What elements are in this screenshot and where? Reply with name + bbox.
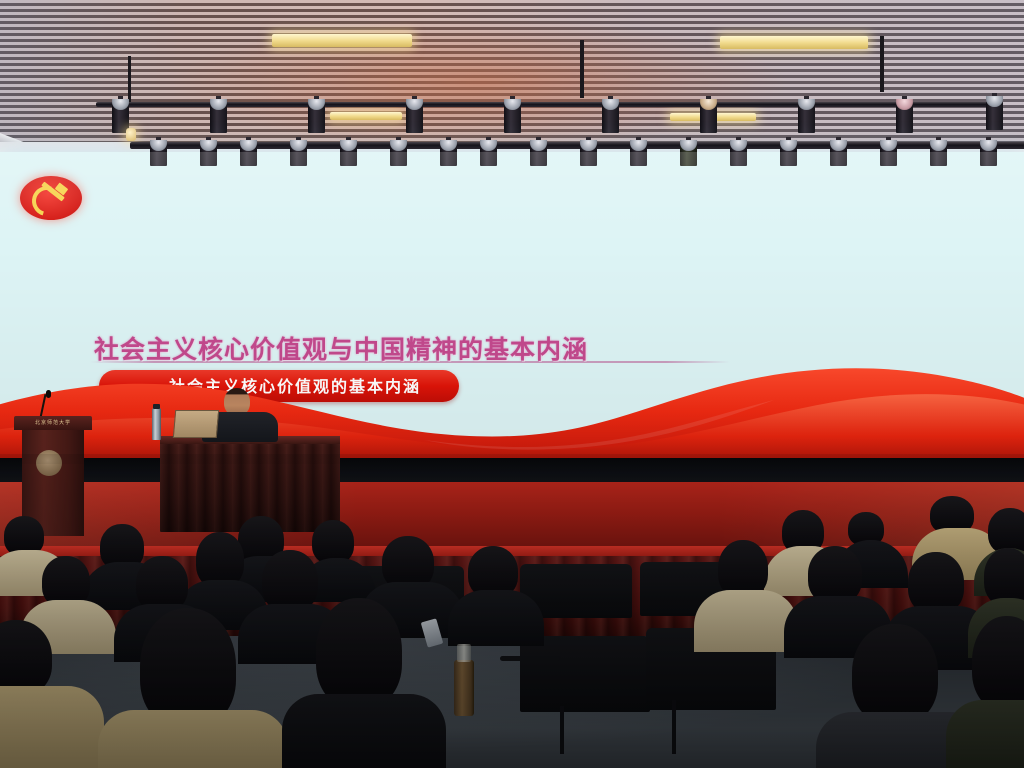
truss-bar-back (96, 102, 996, 107)
seat-armrest (500, 656, 560, 661)
ceiling-light-tube (720, 36, 868, 49)
ceiling-warm-glow (170, 18, 790, 148)
truss-drop-rod (580, 40, 584, 98)
seat-leg (560, 706, 564, 754)
ceiling-light-tube (330, 112, 402, 120)
lectern-inscription: 北京师范大学 (14, 419, 92, 426)
auditorium-seat (520, 636, 650, 712)
truss-drop-rod (128, 56, 131, 104)
truss-drop-rod (880, 36, 884, 92)
water-bottle (152, 408, 161, 440)
laptop (172, 410, 218, 440)
seat-leg (672, 700, 676, 754)
pendant-bulb (126, 128, 136, 141)
university-seal-icon (36, 450, 62, 476)
thermos-flask (454, 660, 474, 716)
cpc-party-emblem-icon (20, 176, 82, 220)
lecture-hall-photo: 社会主义核心价值观与中国精神的基本内涵 一、社会主义核心价值观的基本内涵 （二）… (0, 0, 1024, 768)
ceiling-light-tube (272, 34, 412, 47)
microphone-head-icon (46, 390, 51, 398)
lectern-top: 北京师范大学 (14, 416, 92, 430)
screen-bottom-frame (0, 458, 1024, 484)
